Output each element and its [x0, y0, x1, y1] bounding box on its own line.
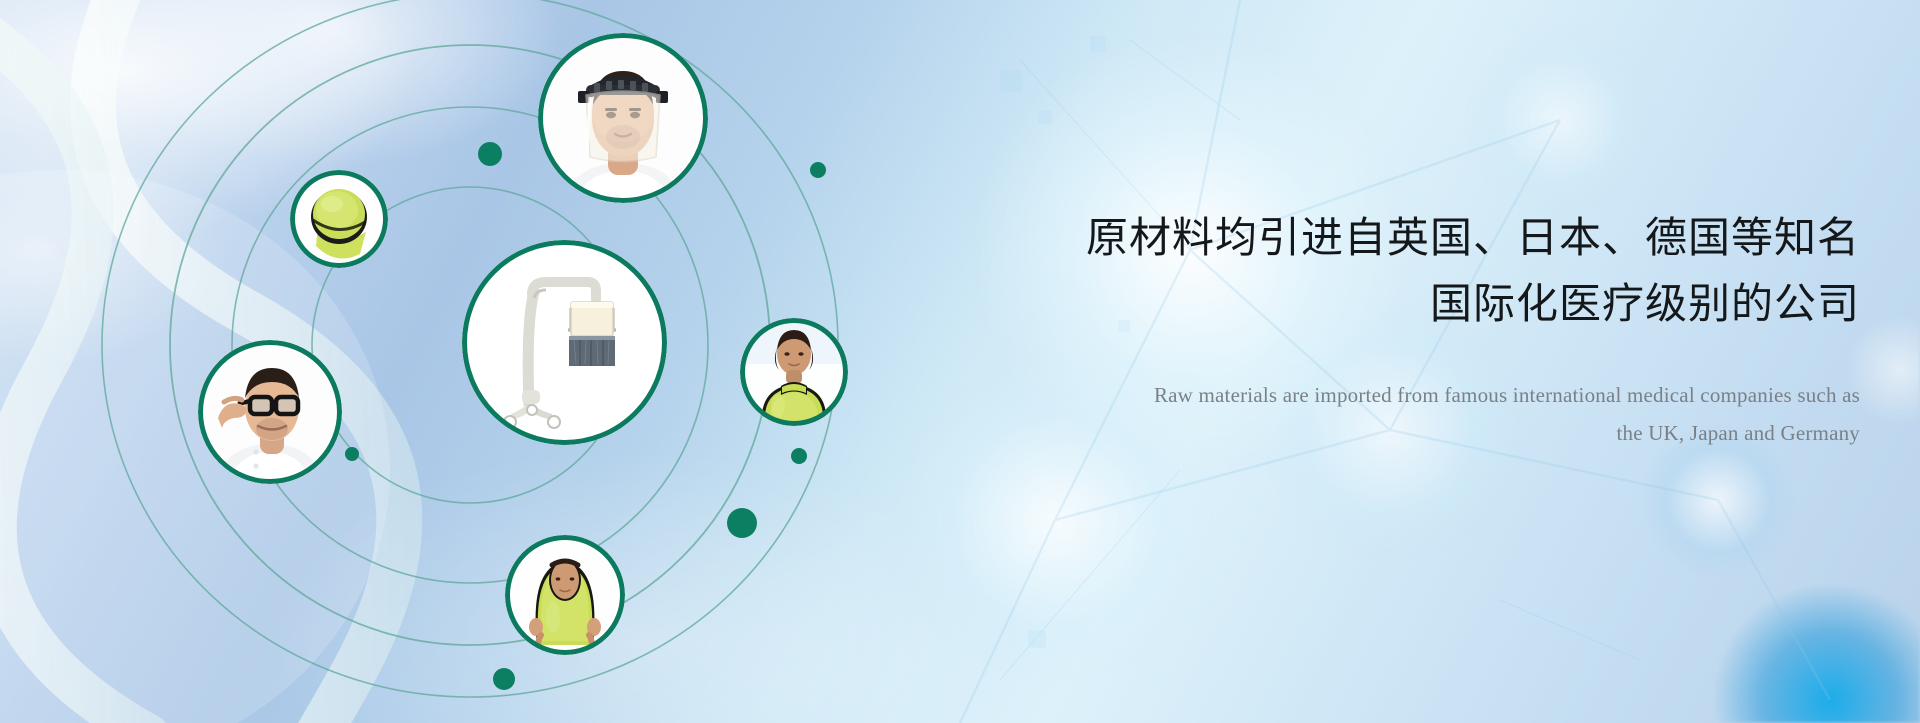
headline-line-1: 原材料均引进自英国、日本、德国等知名 — [980, 208, 1860, 268]
lead-cap-icon — [290, 170, 388, 268]
protective-hood-icon — [505, 535, 625, 655]
product-node-mobile-shield[interactable] — [462, 240, 667, 445]
product-node-lead-glasses[interactable] — [198, 340, 342, 484]
lead-glasses-icon — [198, 340, 342, 484]
thyroid-collar-icon — [740, 318, 848, 426]
product-node-face-shield[interactable] — [538, 33, 708, 203]
accent-dot — [791, 448, 807, 464]
subtitle-line-1: Raw materials are imported from famous i… — [980, 377, 1860, 415]
mobile-shield-icon — [462, 240, 667, 445]
product-node-protective-hood[interactable] — [505, 535, 625, 655]
headline-line-2: 国际化医疗级别的公司 — [980, 274, 1860, 334]
banner-copy: 原材料均引进自英国、日本、德国等知名 国际化医疗级别的公司 Raw materi… — [980, 208, 1860, 453]
product-node-lead-cap[interactable] — [290, 170, 388, 268]
hero-banner: 原材料均引进自英国、日本、德国等知名 国际化医疗级别的公司 Raw materi… — [0, 0, 1920, 723]
face-shield-icon — [538, 33, 708, 203]
accent-dot — [345, 447, 359, 461]
subtitle: Raw materials are imported from famous i… — [980, 377, 1860, 453]
accent-dot — [810, 162, 826, 178]
accent-dot — [727, 508, 757, 538]
product-node-thyroid-collar[interactable] — [740, 318, 848, 426]
accent-dot — [493, 668, 515, 690]
subtitle-line-2: the UK, Japan and Germany — [980, 415, 1860, 453]
accent-dot — [478, 142, 502, 166]
